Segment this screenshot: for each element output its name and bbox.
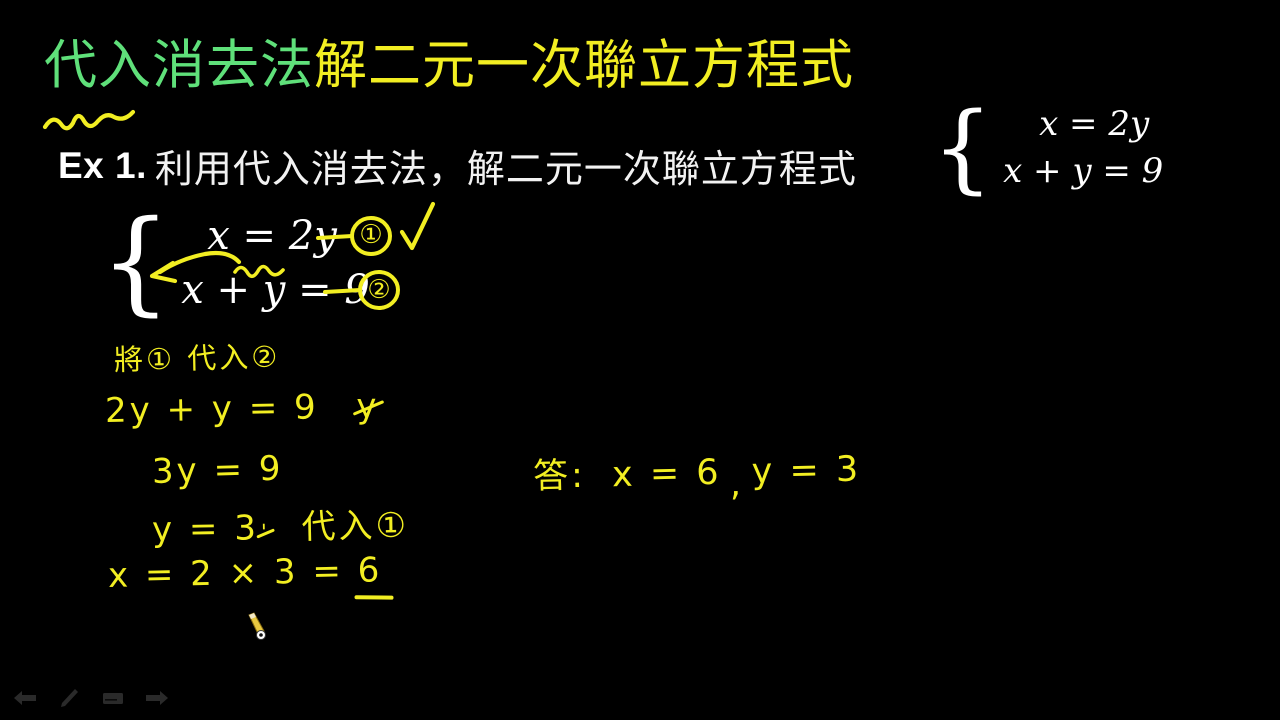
equation-tag-1: ① [352,217,390,255]
answer-y-value: y = 3 [751,450,861,492]
pencil-cursor-icon [243,612,269,640]
work-step-4-expression: y = 3 [152,508,260,550]
checkmark-icon [402,204,433,248]
work-step-5-expression: x = 2 × 3 = [108,551,358,596]
previous-page-button[interactable] [8,683,42,713]
answer-label: 答: [533,456,587,497]
answer-separator: , [729,464,744,504]
final-answer: 答: x = 6,y = 3 [532,441,861,499]
work-step-2-expression: 2y + y = 9 [105,387,319,431]
page-title-green-part: 代入消去法 [44,35,314,96]
work-step-4-note: 代入① [301,506,409,548]
work-equation-2: x + y = 9 [181,263,370,317]
next-page-button[interactable] [140,683,174,713]
page-title-yellow-part: 解二元一次聯立方程式 [314,35,854,96]
work-equation-1: x = 2y [181,209,370,263]
pen-icon [58,687,80,709]
answer-x-value: x = 6 [612,453,722,495]
work-system-brace: { [100,217,171,309]
eraser-tool-button[interactable] [96,683,130,713]
example-heading: Ex 1. 利用代入消去法，解二元一次聯立方程式 [58,138,857,193]
title-squiggle-icon [45,112,133,128]
work-step-2-crossed-out: y [354,386,382,426]
problem-equation-2: x + y = 9 [1003,148,1163,195]
equation-tag-2: ② [360,272,398,310]
work-step-x-solved: x = 2 × 3 = 6 [108,550,383,596]
example-instruction-text: 利用代入消去法，解二元一次聯立方程式 [155,138,857,193]
page-title: 代入消去法解二元一次聯立方程式 [44,38,854,94]
pen-tool-button[interactable] [52,683,86,713]
work-equation-system: { x = 2y x + y = 9 [100,209,370,317]
left-arrow-icon [12,688,38,708]
eraser-icon [101,689,125,707]
problem-equation-system: { x = 2y x + y = 9 [932,101,1163,195]
problem-equation-1: x = 2y [1003,101,1163,148]
right-arrow-icon [144,688,170,708]
work-step-substitute-note: 將① 代入② [114,334,281,379]
whiteboard-screen: 代入消去法解二元一次聯立方程式 Ex 1. 利用代入消去法，解二元一次聯立方程式… [0,0,1280,720]
example-number-label: Ex 1. [58,145,147,187]
work-step-5-result: 6 [357,550,382,591]
work-step-equation-combined: 2y + y = 9 y [105,386,382,431]
work-step-y-solved: y = 3' 代入① [152,498,410,551]
bottom-toolbar [0,676,1280,720]
problem-system-brace: { [932,109,993,188]
work-step-4-crossed-out: ' [259,519,272,544]
work-step-simplified: 3y = 9 [151,449,284,492]
